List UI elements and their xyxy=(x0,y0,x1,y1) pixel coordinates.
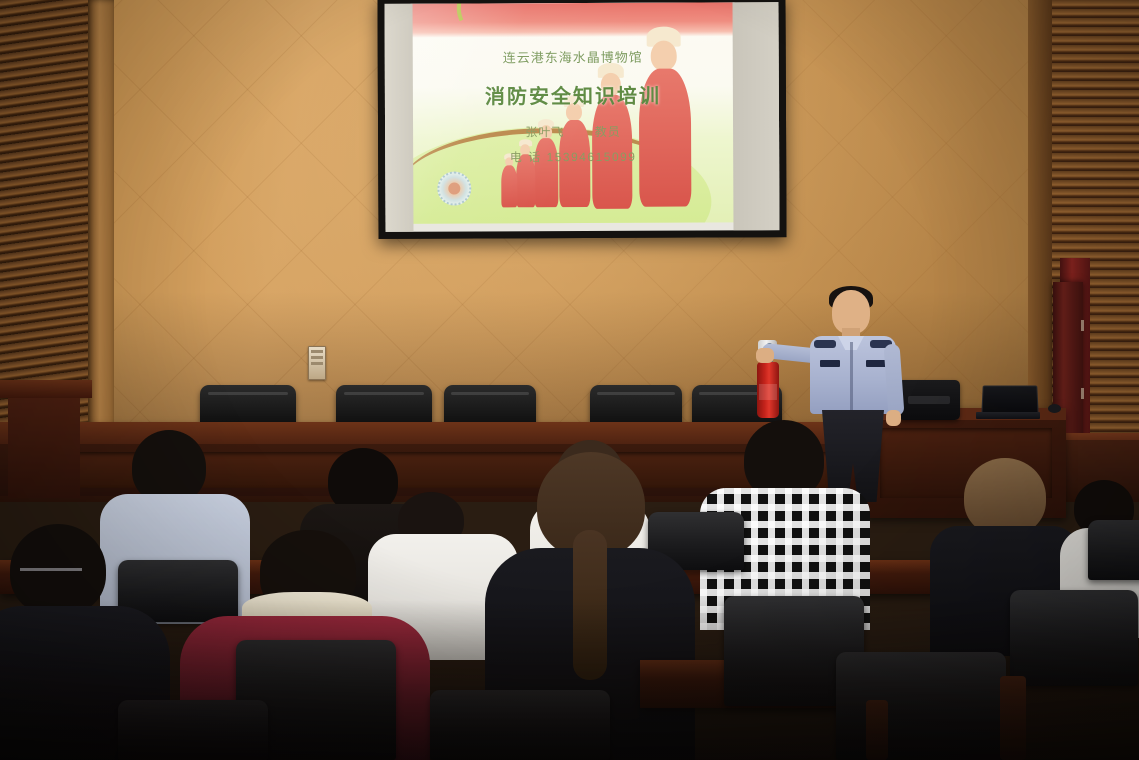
screen-right-margin xyxy=(733,2,780,230)
slide-phone-number: 15394615099 xyxy=(547,150,637,164)
front-seat-4[interactable] xyxy=(1010,590,1138,686)
slide-phone-label: 电 话 xyxy=(510,150,542,164)
presenter-shirt-placket xyxy=(850,342,853,410)
laptop-screen xyxy=(981,386,1038,416)
laptop[interactable] xyxy=(976,385,1040,421)
screen-left-margin xyxy=(385,4,414,232)
presenter-right-hand xyxy=(756,348,774,363)
projection-screen: 连云港东海水晶博物馆 消防安全知识培训 张叶飞 教员 电 话 153946150… xyxy=(377,0,786,239)
switch-row-2 xyxy=(311,356,323,359)
door-hinge-upper xyxy=(1081,320,1084,331)
switch-row-3 xyxy=(311,362,323,365)
seat-armrest-right xyxy=(1000,676,1026,760)
wall-control-panel[interactable] xyxy=(308,346,326,380)
slide-presenter-role: 教员 xyxy=(595,123,621,140)
switch-row-1 xyxy=(311,350,323,353)
attendee-braid xyxy=(573,530,607,680)
slide-phone-line: 电 话 15394615099 xyxy=(411,147,735,165)
attendee-blue-shirt-head xyxy=(132,430,206,504)
lectern-top xyxy=(0,380,92,398)
slide-organization: 连云港东海水晶博物馆 xyxy=(411,46,735,66)
attendee-right-dark-top-head xyxy=(964,458,1046,536)
computer-mouse[interactable] xyxy=(1048,404,1061,413)
extinguisher-label xyxy=(759,384,777,400)
presenter-left-hand xyxy=(886,410,901,426)
laptop-keyboard xyxy=(976,412,1040,419)
slide-presenter-name: 张叶飞 xyxy=(525,123,564,140)
front-seat-6[interactable] xyxy=(118,700,268,760)
seat-armrest-center xyxy=(866,700,888,760)
front-seat-3[interactable] xyxy=(836,652,1006,760)
presentation-slide: 连云港东海水晶博物馆 消防安全知识培训 张叶飞 教员 电 话 153946150… xyxy=(411,2,736,223)
front-seat-5[interactable] xyxy=(430,690,610,760)
presenter-badge-right xyxy=(866,360,886,367)
audience-seat-2[interactable] xyxy=(1088,520,1139,580)
presenter-badge-left xyxy=(820,360,840,367)
glasses-icon xyxy=(20,568,82,583)
slide-presenter-line: 张叶飞 教员 xyxy=(411,122,735,140)
slide-heading: 消防安全知识培训 xyxy=(411,79,735,109)
fire-service-emblem-icon xyxy=(437,171,471,205)
lectern-body xyxy=(8,398,80,498)
lectern xyxy=(0,380,92,500)
auditorium-photo: 连云港东海水晶博物馆 消防安全知识培训 张叶飞 教员 电 话 153946150… xyxy=(0,0,1139,760)
slide-text-block: 连云港东海水晶博物馆 消防安全知识培训 张叶飞 教员 电 话 153946150… xyxy=(411,2,736,165)
door-hinge-lower xyxy=(1081,388,1084,399)
presenter-epaulette-left xyxy=(814,340,836,348)
